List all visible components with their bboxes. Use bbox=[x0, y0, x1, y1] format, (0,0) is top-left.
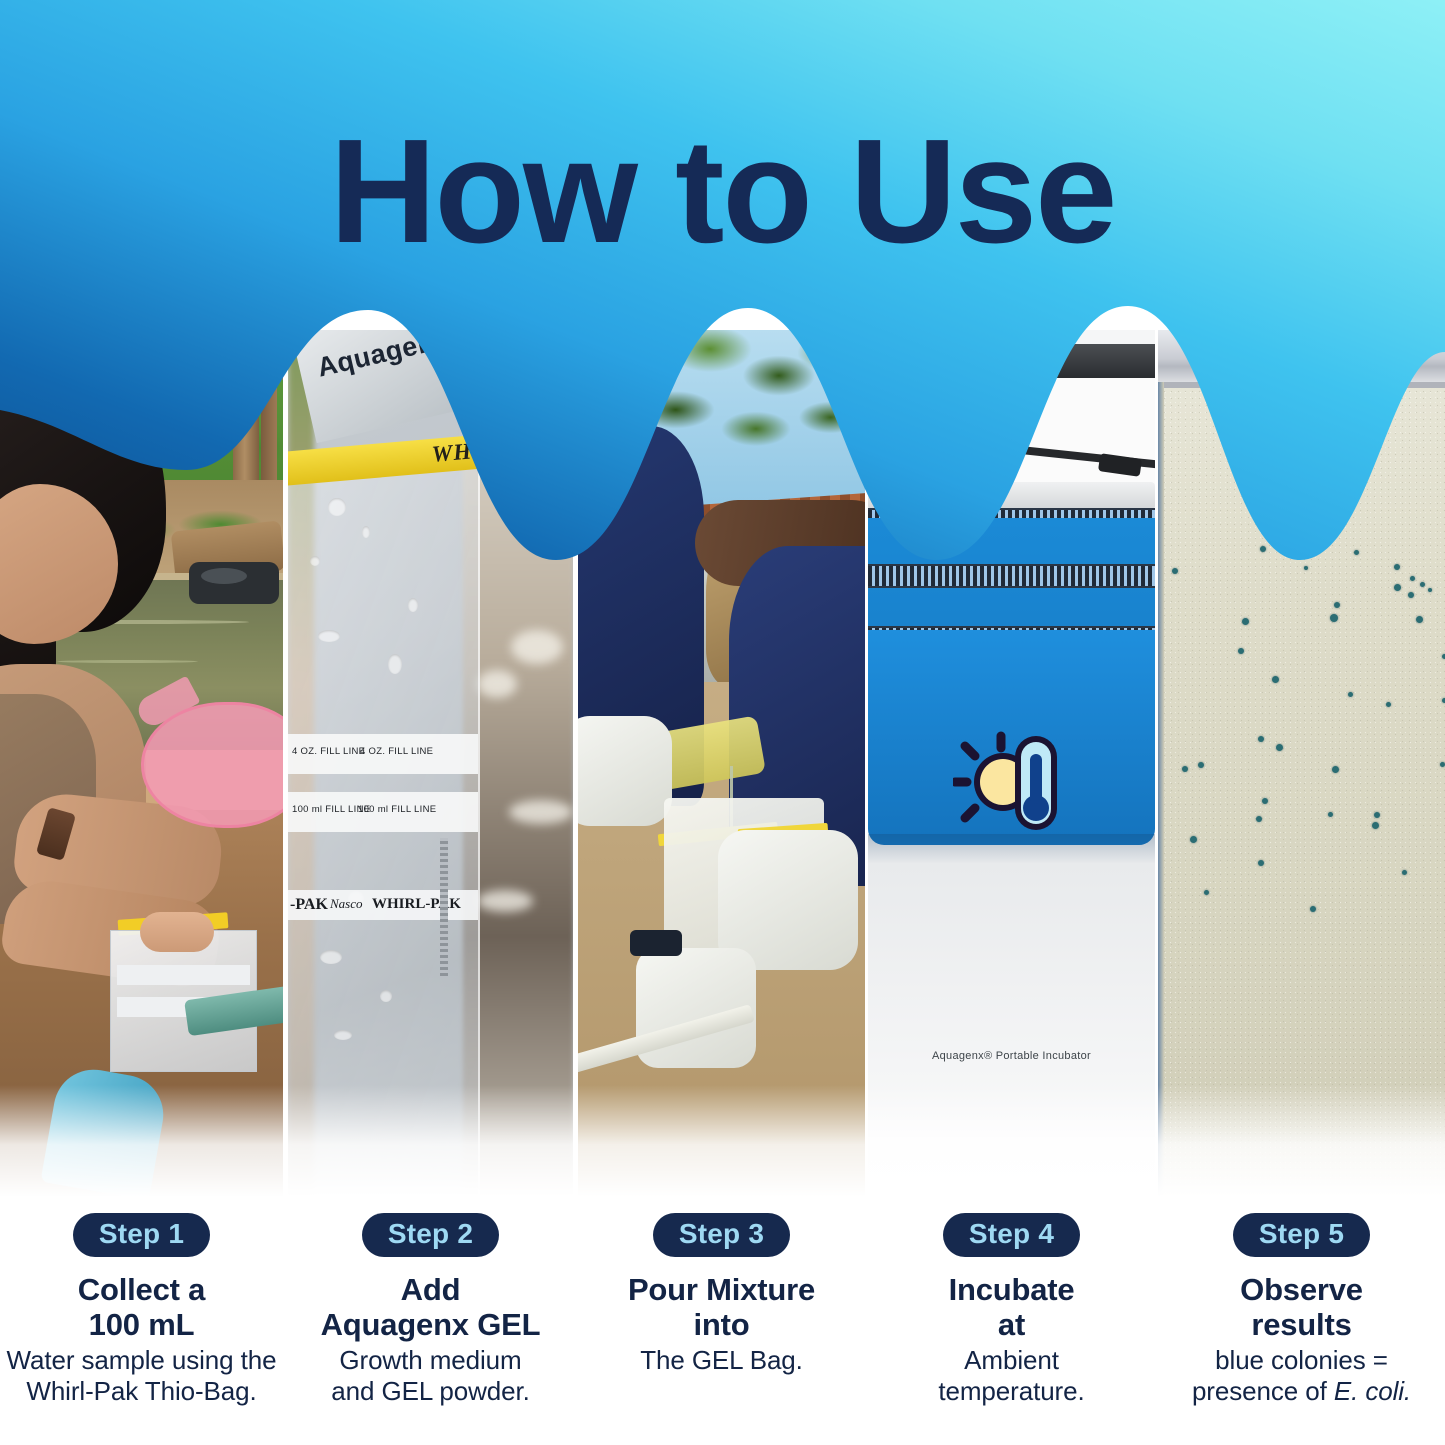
step-4-desc-line-2: temperature. bbox=[868, 1376, 1155, 1407]
how-to-use-infographic: 4 OZ. FILL LINE 4 OZ. FILL LINE 100 ml F… bbox=[0, 0, 1445, 1445]
step-3-title-line-1: Pour Mixture bbox=[578, 1273, 865, 1308]
step-2-desc-line-1: Growth medium bbox=[288, 1345, 573, 1376]
step-4-title-line-1: Incubate bbox=[868, 1273, 1155, 1308]
step-1-desc: Water sample using the Whirl-Pak Thio-Ba… bbox=[0, 1345, 283, 1406]
step-3-label: Step 3 Pour Mixture into The GEL Bag. bbox=[578, 1213, 865, 1376]
step-1-title: Collect a 100 mL bbox=[0, 1273, 283, 1342]
aquagenx-brand-label: Aquagenx bbox=[314, 330, 452, 384]
step-1-title-line-1: Collect a bbox=[0, 1273, 283, 1308]
step-5-desc-line-2: presence of E. coli. bbox=[1158, 1376, 1445, 1407]
incubator-caption: Aquagenx® Portable Incubator bbox=[868, 1050, 1155, 1062]
step-1-badge: Step 1 bbox=[73, 1213, 210, 1257]
step-5-desc-line-1: blue colonies = bbox=[1158, 1345, 1445, 1376]
fill-line-100ml-right: 100 ml FILL LINE bbox=[358, 804, 436, 815]
step-2-badge: Step 2 bbox=[362, 1213, 499, 1257]
page-title: How to Use bbox=[0, 118, 1445, 266]
step-4-image: CONTROL bbox=[868, 330, 1155, 1215]
water-collection-photo bbox=[0, 330, 283, 1215]
nasco-script: Nasco bbox=[330, 896, 363, 912]
whirlpak-tab-label: WHIRL- bbox=[431, 434, 523, 468]
step-3-image: Hope bbox=[578, 330, 865, 1215]
colonies-photo bbox=[1158, 330, 1445, 1215]
step-5-title: Observe results bbox=[1158, 1273, 1445, 1342]
step-image-strip: 4 OZ. FILL LINE 4 OZ. FILL LINE 100 ml F… bbox=[0, 330, 1445, 1215]
step-2-title-line-2: Aquagenx GEL bbox=[288, 1308, 573, 1343]
step-5-desc-species: E. coli. bbox=[1334, 1376, 1411, 1406]
step-3-desc-line-1: The GEL Bag. bbox=[578, 1345, 865, 1376]
step-5-badge: Step 5 bbox=[1233, 1213, 1370, 1257]
step-2-label: Step 2 Add Aquagenx GEL Growth medium an… bbox=[288, 1213, 573, 1407]
step-4-badge: Step 4 bbox=[943, 1213, 1080, 1257]
step-5-title-line-1: Observe bbox=[1158, 1273, 1445, 1308]
step-5-label: Step 5 Observe results blue colonies = p… bbox=[1158, 1213, 1445, 1407]
sun-thermometer-icon bbox=[953, 730, 1071, 834]
fill-line-4oz-left: 4 OZ. FILL LINE bbox=[292, 746, 365, 757]
pour-mixture-photo: Hope bbox=[578, 330, 865, 1215]
step-2-image: 4 OZ. FILL LINE 4 OZ. FILL LINE 100 ml F… bbox=[288, 330, 573, 1215]
step-4-title: Incubate at bbox=[868, 1273, 1155, 1342]
step-2-desc-line-2: and GEL powder. bbox=[288, 1376, 573, 1407]
step-5-desc-prefix: presence of bbox=[1192, 1376, 1334, 1406]
step-1-desc-line-2: Whirl-Pak Thio-Bag. bbox=[0, 1376, 283, 1407]
step-labels: Step 1 Collect a 100 mL Water sample usi… bbox=[0, 1213, 1445, 1445]
step-3-desc: The GEL Bag. bbox=[578, 1345, 865, 1376]
step-3-title-line-2: into bbox=[578, 1308, 865, 1343]
portable-incubator-photo: CONTROL bbox=[868, 330, 1155, 1215]
step-4-label: Step 4 Incubate at Ambient temperature. bbox=[868, 1213, 1155, 1407]
step-2-title: Add Aquagenx GEL bbox=[288, 1273, 573, 1342]
fill-line-4oz-right: 4 OZ. FILL LINE bbox=[360, 746, 433, 757]
whirlpak-bag-photo: 4 OZ. FILL LINE 4 OZ. FILL LINE 100 ml F… bbox=[288, 330, 573, 1215]
step-5-desc: blue colonies = presence of E. coli. bbox=[1158, 1345, 1445, 1406]
whirlpak-footer-left: -PAK bbox=[290, 896, 328, 914]
step-1-image bbox=[0, 330, 283, 1215]
step-3-badge: Step 3 bbox=[653, 1213, 790, 1257]
step-1-desc-line-1: Water sample using the bbox=[0, 1345, 283, 1376]
step-4-title-line-2: at bbox=[868, 1308, 1155, 1343]
step-4-desc-line-1: Ambient bbox=[868, 1345, 1155, 1376]
step-3-title: Pour Mixture into bbox=[578, 1273, 865, 1342]
step-5-image bbox=[1158, 330, 1445, 1215]
step-2-title-line-1: Add bbox=[288, 1273, 573, 1308]
step-5-title-line-2: results bbox=[1158, 1308, 1445, 1343]
step-2-desc: Growth medium and GEL powder. bbox=[288, 1345, 573, 1406]
step-4-desc: Ambient temperature. bbox=[868, 1345, 1155, 1406]
step-1-title-line-2: 100 mL bbox=[0, 1308, 283, 1343]
step-1-label: Step 1 Collect a 100 mL Water sample usi… bbox=[0, 1213, 283, 1407]
